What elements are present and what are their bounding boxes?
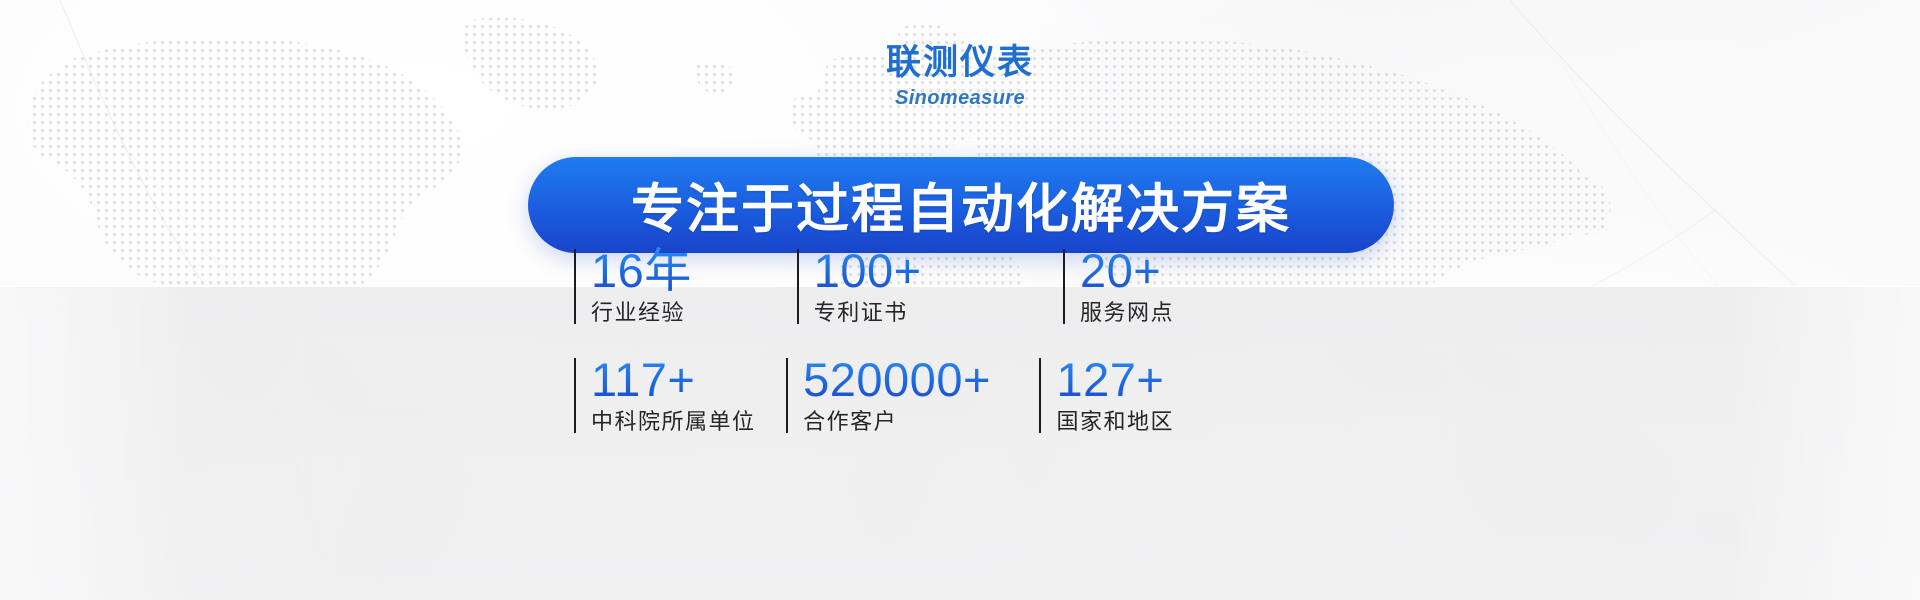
stat-label: 合作客户 [803, 409, 1039, 438]
stat-cas-institutes: 117+ 中科院所属单位 [574, 354, 786, 437]
headline-pill: 专注于过程自动化解决方案 [528, 157, 1394, 253]
stat-years-experience: 16年 行业经验 [574, 245, 797, 328]
stats-row-2: 117+ 中科院所属单位 520000+ 合作客户 127+ 国家和地区 [574, 354, 1174, 437]
stat-service-points: 20+ 服务网点 [1063, 245, 1174, 328]
stat-value: 20+ [1080, 245, 1174, 298]
stat-value: 520000+ [803, 354, 1039, 407]
stat-customers: 520000+ 合作客户 [786, 354, 1039, 437]
stat-value: 100+ [814, 245, 1063, 298]
stat-label: 国家和地区 [1056, 409, 1174, 438]
brand-logo: 联测仪表 Sinomeasure [0, 46, 1920, 108]
stat-label: 行业经验 [591, 300, 797, 329]
headline-text: 专注于过程自动化解决方案 [631, 167, 1291, 243]
stats-block: 16年 行业经验 100+ 专利证书 20+ 服务网点 117+ 中科院所属单位… [574, 245, 1174, 443]
promo-banner: 联测仪表 Sinomeasure 专注于过程自动化解决方案 16年 行业经验 1… [0, 0, 1920, 600]
brand-name-en: Sinomeasure [0, 88, 1920, 108]
brand-name-cn: 联测仪表 [0, 46, 1920, 81]
stat-value: 127+ [1056, 354, 1174, 407]
stats-row-1: 16年 行业经验 100+ 专利证书 20+ 服务网点 [574, 245, 1174, 328]
stat-label: 服务网点 [1080, 300, 1174, 329]
stat-label: 中科院所属单位 [591, 409, 786, 438]
stat-label: 专利证书 [814, 300, 1063, 329]
stat-patents: 100+ 专利证书 [797, 245, 1063, 328]
stat-value: 117+ [591, 354, 786, 407]
stat-countries: 127+ 国家和地区 [1039, 354, 1174, 437]
stat-value: 16年 [591, 245, 797, 298]
